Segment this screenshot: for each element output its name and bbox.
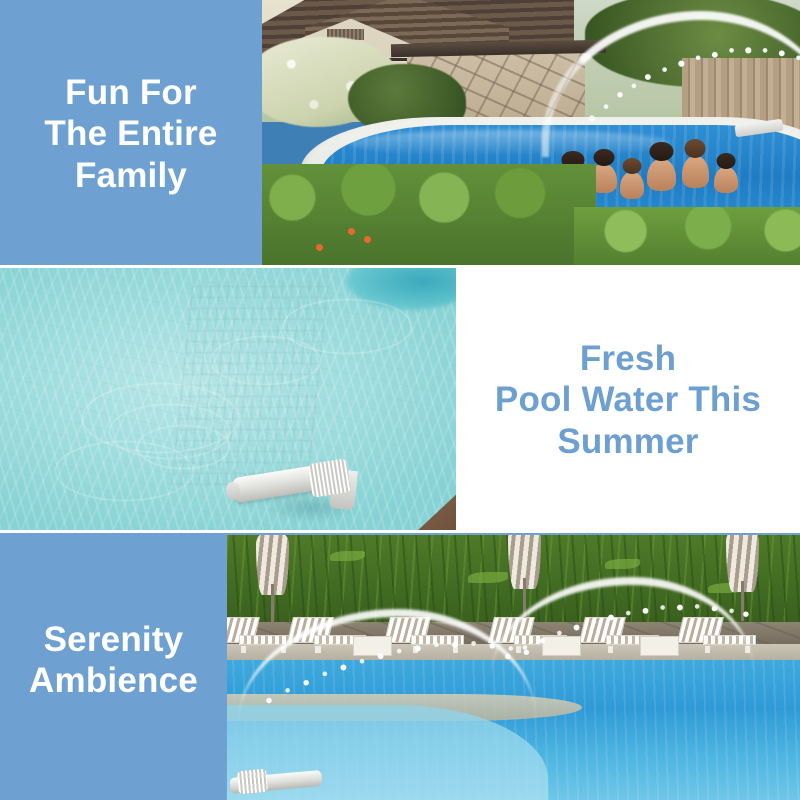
swimmer [620, 172, 644, 199]
caption-line: Family [75, 155, 187, 196]
water-ripple [55, 441, 194, 501]
swimmer [682, 156, 709, 188]
water-ripple [283, 299, 413, 353]
caption-fresh-pool-water-this-summer: Fresh Pool Water This Summer [456, 300, 800, 500]
caption-line: Serenity [44, 619, 184, 660]
hedge-foreground [262, 164, 596, 265]
caption-line: Ambience [29, 660, 198, 701]
fountain-nozzle-ribbed-collar [238, 768, 268, 793]
caption-line: Fun For [65, 72, 197, 113]
water-jet-spray [479, 572, 766, 683]
photo-backyard-above-ground-pool [262, 0, 800, 265]
caption-line: Fresh [580, 338, 676, 379]
swimmer [647, 159, 677, 191]
caption-line: The Entire [44, 113, 217, 154]
photo-resort-pool-with-fountain-jets [227, 535, 800, 800]
product-feature-collage: Fun For The Entire Family [0, 0, 800, 800]
fountain-nozzle-ribbed-collar [308, 458, 352, 498]
caption-line: Pool Water This [495, 379, 761, 420]
swimmer [714, 167, 738, 194]
swimmer-head [622, 158, 641, 174]
photo-clear-pool-water-with-nozzle [0, 268, 456, 530]
hedge-foreground-right [574, 207, 800, 265]
caption-serenity-ambience: Serenity Ambience [0, 600, 227, 720]
flower [316, 244, 323, 251]
caption-fun-for-the-entire-family: Fun For The Entire Family [0, 34, 262, 234]
flower [348, 228, 355, 235]
caption-line: Summer [557, 421, 698, 462]
